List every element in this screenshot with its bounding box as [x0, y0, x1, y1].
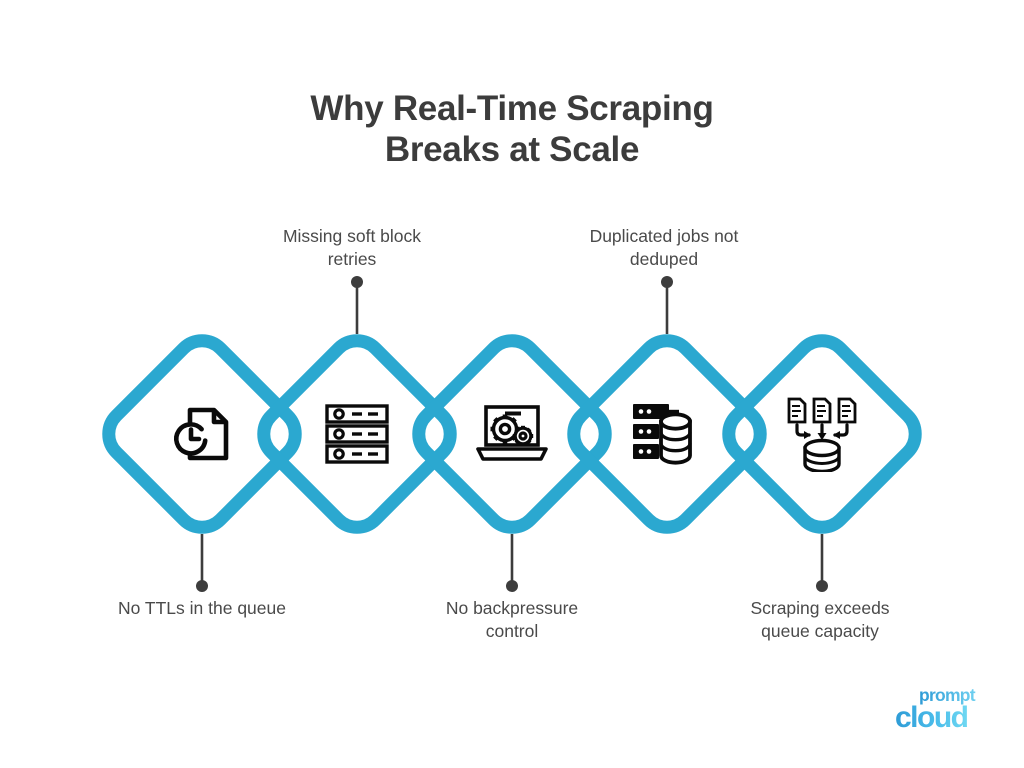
- node-caption-1-line-1: No TTLs in the queue: [72, 597, 332, 620]
- node-caption-5: Scraping exceeds queue capacity: [690, 597, 950, 643]
- infographic-canvas: Why Real-Time Scraping Breaks at Scale: [0, 0, 1024, 768]
- page-title-line-1: Why Real-Time Scraping: [0, 88, 1024, 129]
- node-caption-4-line-1: Duplicated jobs not: [534, 225, 794, 248]
- node-caption-3-line-2: control: [382, 620, 642, 643]
- node-caption-4-line-2: deduped: [534, 248, 794, 271]
- server-rack-icon: [324, 403, 390, 465]
- node-caption-2-line-2: retries: [222, 248, 482, 271]
- document-clock-icon: [170, 402, 234, 466]
- node-caption-3-line-1: No backpressure: [382, 597, 642, 620]
- node-icon-1: [160, 392, 244, 476]
- promptcloud-logo: prompt cloud: [893, 681, 993, 733]
- connector-dot-2: [351, 276, 363, 288]
- node-caption-2-line-1: Missing soft block: [222, 225, 482, 248]
- server-database-icon: [631, 401, 703, 467]
- page-title: Why Real-Time Scraping Breaks at Scale: [0, 88, 1024, 170]
- page-title-line-2: Breaks at Scale: [0, 129, 1024, 170]
- node-icon-2: [315, 392, 399, 476]
- node-icon-4: [625, 392, 709, 476]
- node-caption-5-line-1: Scraping exceeds: [690, 597, 950, 620]
- documents-to-database-icon: [786, 396, 858, 472]
- laptop-gears-icon: [475, 403, 549, 465]
- connector-dot-4: [661, 276, 673, 288]
- logo-bottom-text: cloud: [895, 701, 968, 733]
- node-caption-1: No TTLs in the queue: [72, 597, 332, 620]
- connector-dot-1: [196, 580, 208, 592]
- node-icon-5: [780, 392, 864, 476]
- connector-dot-5: [816, 580, 828, 592]
- node-caption-2: Missing soft block retries: [222, 225, 482, 271]
- connector-dot-3: [506, 580, 518, 592]
- node-caption-3: No backpressure control: [382, 597, 642, 643]
- node-icon-3: [470, 392, 554, 476]
- node-caption-5-line-2: queue capacity: [690, 620, 950, 643]
- node-caption-4: Duplicated jobs not deduped: [534, 225, 794, 271]
